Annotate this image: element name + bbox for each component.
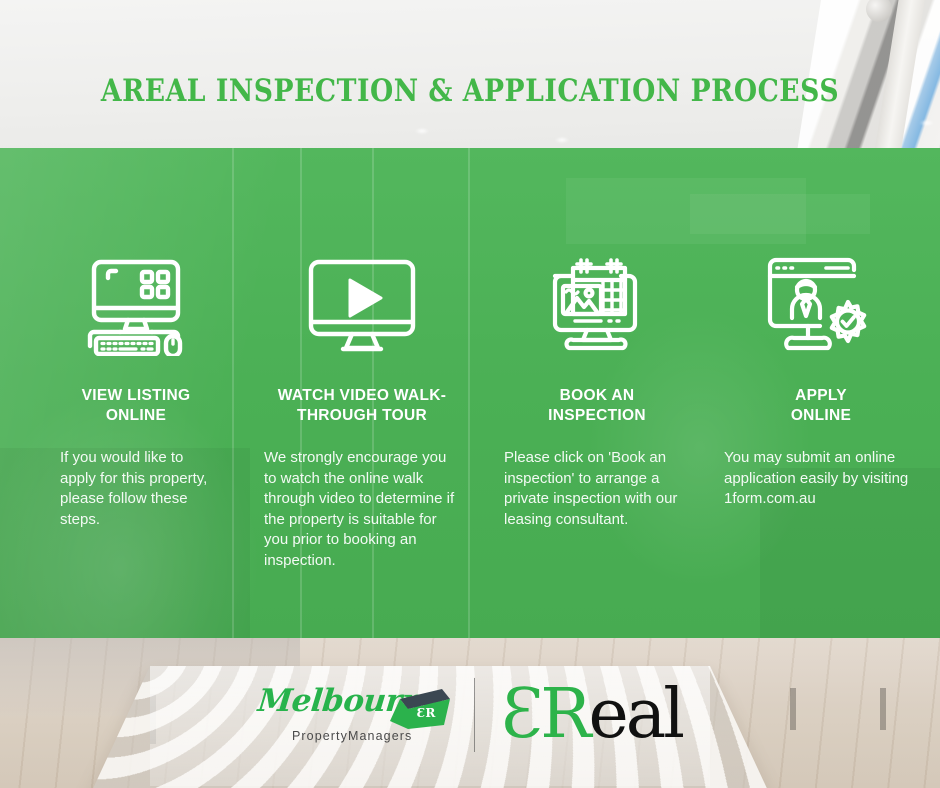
melbourne-property-managers-logo[interactable]: Melbourne PropertyManagers ƐR [258,677,448,753]
step-title-line1: WATCH VIDEO WALK- [278,387,446,404]
areal-logo-green-part: ƐR [501,681,589,749]
roof-diamond-mark-icon: ƐR [384,687,450,729]
step-title-line2: ONLINE [791,407,851,424]
steps-row: VIEW LISTING ONLINE If you would like to… [0,148,940,638]
step-card-view-listing: VIEW LISTING ONLINE If you would like to… [0,254,246,530]
page-title: AREAL INSPECTION & APPLICATION PROCESS [66,73,874,109]
footer-logos: Melbourne PropertyManagers ƐR ƐReal [0,660,940,770]
step-body: If you would like to apply for this prop… [60,448,222,530]
step-body: Please click on 'Book an inspection' to … [504,448,690,530]
downlight-icon [555,137,569,143]
monitor-calendar-photo-icon [504,254,690,358]
downlight-icon [415,128,429,134]
downlight-icon [920,120,934,126]
monitor-person-gear-check-icon [722,254,920,358]
step-title: VIEW LISTING ONLINE [50,386,222,426]
desktop-computer-keyboard-mouse-icon [50,254,222,358]
step-title-line1: APPLY [795,387,847,404]
areal-logo[interactable]: ƐReal [501,681,682,749]
step-card-watch-video: WATCH VIDEO WALK- THROUGH TOUR We strong… [246,254,478,571]
step-title: BOOK AN INSPECTION [504,386,690,426]
monitor-play-video-icon [264,254,460,358]
step-title-line2: ONLINE [106,407,166,424]
step-card-book-inspection: BOOK AN INSPECTION Please click on 'Book… [478,254,704,530]
infographic-poster: AREAL INSPECTION & APPLICATION PROCESS [0,0,940,788]
step-title-line2: THROUGH TOUR [297,407,427,424]
step-body: We strongly encourage you to watch the o… [264,448,460,571]
property-managers-text: PropertyManagers [292,729,412,743]
step-title-line2: INSPECTION [548,407,646,424]
step-title: APPLY ONLINE [722,386,920,426]
step-title: WATCH VIDEO WALK- THROUGH TOUR [264,386,460,426]
step-title-line1: BOOK AN [560,387,635,404]
areal-logo-black-part: eal [589,681,683,749]
step-body: You may submit an online application eas… [724,448,920,510]
step-title-line1: VIEW LISTING [82,387,191,404]
step-card-apply-online: APPLY ONLINE You may submit an online ap… [704,254,940,510]
mark-initials: ƐR [417,706,437,720]
logo-divider [474,678,475,752]
